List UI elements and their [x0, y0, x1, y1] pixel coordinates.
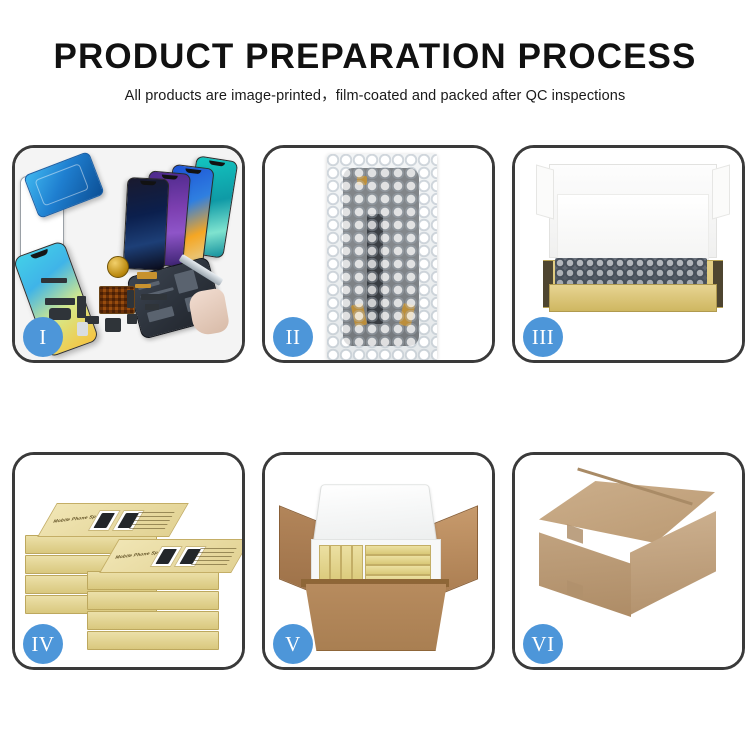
process-step-card-1: I — [12, 145, 245, 363]
step-badge-1: I — [23, 317, 63, 357]
carton-front-panel — [305, 583, 447, 651]
phone-dark-icon — [123, 177, 170, 271]
small-part — [135, 284, 151, 288]
screen-thumbnail — [155, 549, 177, 564]
phone-fan-group — [101, 156, 242, 266]
hand — [187, 287, 230, 337]
kraft-box-front-panel — [549, 284, 717, 312]
box-lid-front: Mobile Phone Spare Parts — [99, 539, 242, 573]
small-part — [45, 298, 75, 305]
packed-box — [365, 555, 431, 565]
packed-box — [365, 545, 431, 555]
small-part — [145, 304, 159, 310]
small-part — [49, 308, 71, 320]
process-step-grid: I II — [12, 145, 738, 670]
spare-parts-group — [41, 260, 223, 346]
product-preparation-process-page: PRODUCT PREPARATION PROCESS All products… — [0, 0, 750, 750]
small-part — [77, 322, 88, 336]
process-step-card-3: III — [512, 145, 745, 363]
small-part — [127, 314, 137, 324]
notch-icon — [185, 168, 201, 174]
process-step-card-6: VI — [512, 452, 745, 670]
foam-box-lid — [312, 484, 437, 546]
notch-icon — [30, 249, 49, 260]
stacked-box — [87, 591, 219, 610]
small-part — [41, 278, 67, 283]
step-badge-6: VI — [523, 624, 563, 664]
packed-box — [365, 565, 431, 575]
step-badge-2: II — [273, 317, 313, 357]
bubble-wrap-pouch — [327, 154, 437, 360]
page-header: PRODUCT PREPARATION PROCESS All products… — [0, 36, 750, 105]
step-badge-5: V — [273, 624, 313, 664]
screen-thumbnail — [93, 513, 115, 528]
foam-sheet — [557, 194, 709, 260]
page-title: PRODUCT PREPARATION PROCESS — [0, 36, 750, 78]
process-step-card-2: II — [262, 145, 495, 363]
gold-connector — [357, 176, 367, 185]
small-part — [105, 318, 121, 332]
speaker-coil-part — [107, 256, 129, 278]
stacked-box — [87, 611, 219, 630]
step-badge-3: III — [523, 317, 563, 357]
bubble-wrapped-item — [555, 258, 707, 286]
stacked-box — [87, 571, 219, 590]
process-step-card-4: Mobile Phone Spare Parts Mobile Phone Sp… — [12, 452, 245, 670]
notch-icon — [209, 160, 225, 166]
small-part — [137, 272, 157, 279]
step-badge-4: IV — [23, 624, 63, 664]
small-part — [77, 296, 86, 318]
notch-icon — [140, 181, 156, 186]
page-subtitle: All products are image-printed，film-coat… — [0, 84, 750, 105]
process-step-card-5: V — [262, 452, 495, 670]
small-part — [141, 294, 167, 300]
flex-cable — [367, 214, 383, 324]
small-part — [127, 290, 134, 308]
stacked-box — [87, 631, 219, 650]
box-lid-rear: Mobile Phone Spare Parts — [37, 503, 189, 537]
